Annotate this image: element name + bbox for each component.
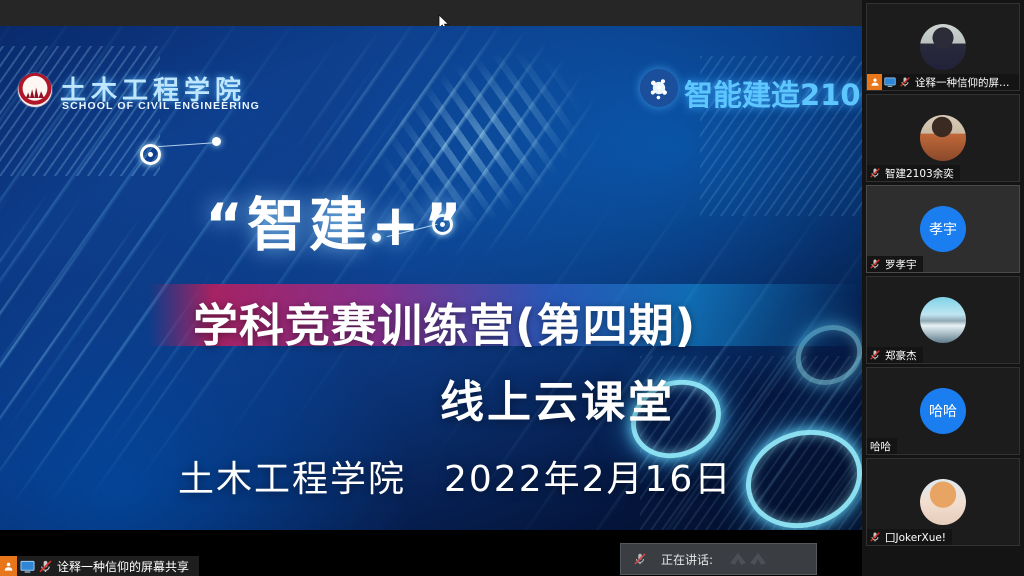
university-crest-icon — [18, 73, 52, 107]
mic-muted-icon — [633, 552, 647, 566]
participant-name: 哈哈 — [870, 439, 891, 454]
participant-name: 囗JokerXue! — [885, 530, 946, 545]
participant-namebar: 郑豪杰 — [867, 347, 923, 363]
class-name-label: 智能建造2103班 — [684, 72, 862, 114]
participant-tile[interactable]: 哈哈哈哈 — [866, 367, 1020, 455]
mic-muted-icon — [897, 74, 912, 90]
slide-footer-text: 土木工程学院 2022年2月16日 — [178, 450, 732, 502]
avatar — [920, 479, 966, 525]
screen-share-label-text: 诠释一种信仰的屏幕共享 — [57, 558, 189, 575]
double-chevron-icon — [728, 551, 774, 567]
screen-share-icon — [20, 559, 35, 574]
screen-share-label: 诠释一种信仰的屏幕共享 — [0, 556, 199, 576]
avatar — [920, 297, 966, 343]
slide-title-main: “智建+” — [205, 178, 466, 262]
participant-namebar: 囗JokerXue! — [867, 529, 952, 545]
mic-muted-icon — [867, 256, 882, 272]
host-badge-icon — [0, 556, 17, 576]
slide-title-sub1: 学科竞赛训练营(第四期) — [193, 289, 696, 354]
connector-node — [140, 144, 161, 165]
slide-title-sub2: 线上云课堂 — [440, 366, 675, 430]
host-badge-icon — [867, 74, 882, 90]
participant-strip[interactable]: 诠释一种信仰的屏幕共...智建2103余奕孝宇罗孝宇郑豪杰哈哈哈哈囗JokerX… — [862, 0, 1024, 576]
participant-name: 郑豪杰 — [885, 348, 917, 363]
speaking-label: 正在讲话: — [661, 551, 713, 568]
meeting-window: 土木工程学院 SCHOOL OF CIVIL ENGINEERING 智能建造2… — [0, 0, 1024, 576]
network-sphere-icon — [640, 69, 678, 107]
speaking-indicator[interactable]: 正在讲话: — [620, 543, 817, 575]
participant-name: 智建2103余奕 — [885, 166, 954, 181]
participant-tile[interactable]: 智建2103余奕 — [866, 94, 1020, 182]
mic-muted-icon — [867, 165, 882, 181]
participant-tile[interactable]: 郑豪杰 — [866, 276, 1020, 364]
mic-muted-icon — [867, 347, 882, 363]
participant-name: 诠释一种信仰的屏幕共... — [915, 75, 1015, 90]
participant-namebar: 智建2103余奕 — [867, 165, 960, 181]
slide-header: 土木工程学院 SCHOOL OF CIVIL ENGINEERING 智能建造2… — [0, 26, 862, 88]
participant-tile[interactable]: 诠释一种信仰的屏幕共... — [866, 3, 1020, 91]
participant-tile[interactable]: 囗JokerXue! — [866, 458, 1020, 546]
participant-name: 罗孝宇 — [885, 257, 917, 272]
mic-muted-icon — [38, 559, 53, 574]
participant-namebar: 罗孝宇 — [867, 256, 923, 272]
connector-wire — [158, 142, 220, 147]
participant-namebar: 诠释一种信仰的屏幕共... — [867, 74, 1020, 90]
participant-namebar: 哈哈 — [867, 438, 897, 454]
avatar: 孝宇 — [920, 206, 966, 252]
mic-muted-icon — [867, 529, 882, 545]
avatar: 哈哈 — [920, 388, 966, 434]
screen-share-icon — [882, 74, 897, 90]
school-name-en: SCHOOL OF CIVIL ENGINEERING — [62, 100, 260, 112]
participant-tile[interactable]: 孝宇罗孝宇 — [866, 185, 1020, 273]
connector-node — [212, 137, 221, 146]
avatar — [920, 24, 966, 70]
shared-screen-area[interactable]: 土木工程学院 SCHOOL OF CIVIL ENGINEERING 智能建造2… — [0, 0, 862, 576]
avatar — [920, 115, 966, 161]
shared-screen-topbar — [0, 0, 862, 26]
presentation-slide: 土木工程学院 SCHOOL OF CIVIL ENGINEERING 智能建造2… — [0, 26, 862, 530]
